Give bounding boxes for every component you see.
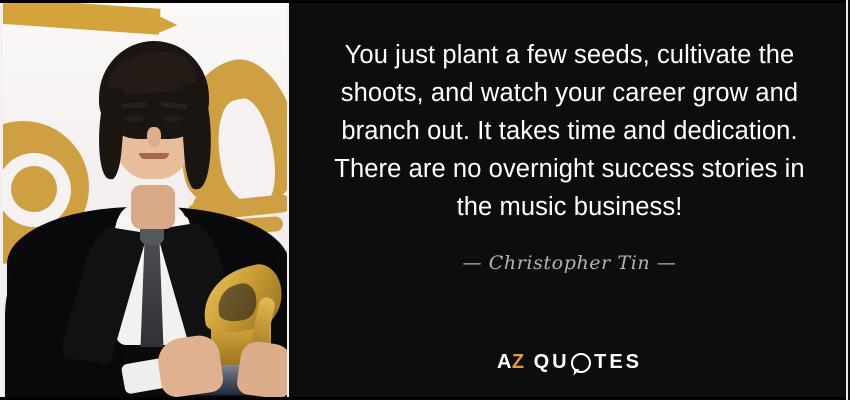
az-quotes-logo[interactable]: A Z QU TES <box>289 351 850 374</box>
eye-right <box>163 115 183 122</box>
quote-panel: You just plant a few seeds, cultivate th… <box>289 0 850 400</box>
hand-right <box>236 340 287 397</box>
quote-text: You just plant a few seeds, cultivate th… <box>320 36 820 226</box>
frame-border-top <box>0 0 850 3</box>
author-photo-inner <box>3 3 287 397</box>
quote-card: You just plant a few seeds, cultivate th… <box>0 0 850 400</box>
logo-quotes-part-2: TES <box>594 351 642 374</box>
neck <box>131 185 175 229</box>
photo-subject <box>3 3 287 397</box>
nose <box>147 127 161 147</box>
hair-side-right <box>179 82 214 190</box>
quote-attribution: — Christopher Tin — <box>463 252 677 274</box>
logo-letter-z: Z <box>512 351 525 374</box>
logo-word-quotes: QU TES <box>534 351 642 374</box>
mouth <box>139 153 169 159</box>
speech-bubble-icon <box>571 353 591 373</box>
eye-left <box>125 115 145 122</box>
logo-quotes-part-1: QU <box>534 351 570 374</box>
logo-letter-a: A <box>497 351 512 374</box>
az-quotes-logo-inner: A Z QU TES <box>497 351 642 374</box>
author-photo <box>0 0 289 400</box>
